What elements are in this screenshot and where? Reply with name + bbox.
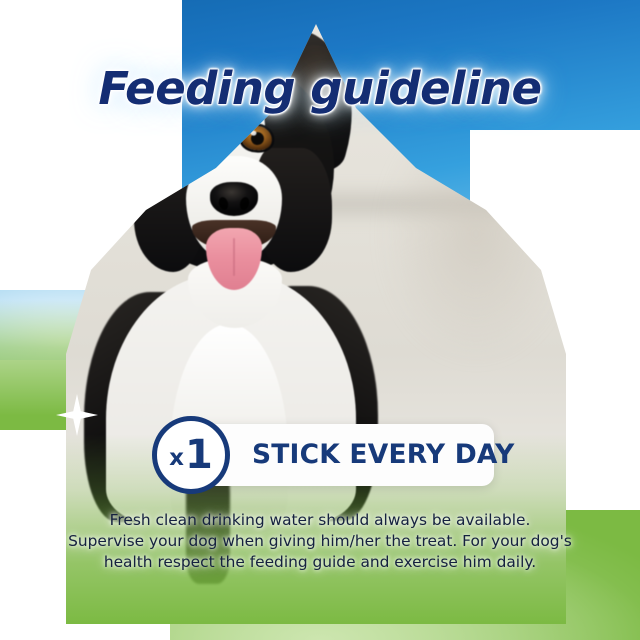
- dosage-multiplier-value: 1: [185, 435, 213, 475]
- page-title: Feeding guideline: [0, 62, 640, 115]
- feeding-instructions-line-3: health respect the feeding guide and exe…: [40, 552, 600, 573]
- dosage-badge-circle: x 1: [152, 416, 230, 494]
- sparkle-icon-right: [548, 139, 590, 181]
- feeding-instructions-line-1: Fresh clean drinking water should always…: [40, 510, 600, 531]
- feeding-instructions: Fresh clean drinking water should always…: [40, 510, 600, 573]
- sparkle-icon-left: [56, 394, 98, 436]
- dosage-badge-label: STICK EVERY DAY: [252, 424, 514, 486]
- dosage-multiplier-prefix: x: [169, 447, 184, 470]
- dosage-badge-pill: STICK EVERY DAY: [194, 424, 494, 486]
- feeding-guideline-card: Feeding guideline STICK EVERY DAY x 1 Fr…: [0, 0, 640, 640]
- feeding-instructions-line-2: Supervise your dog when giving him/her t…: [40, 531, 600, 552]
- dosage-badge: STICK EVERY DAY x 1: [152, 416, 494, 494]
